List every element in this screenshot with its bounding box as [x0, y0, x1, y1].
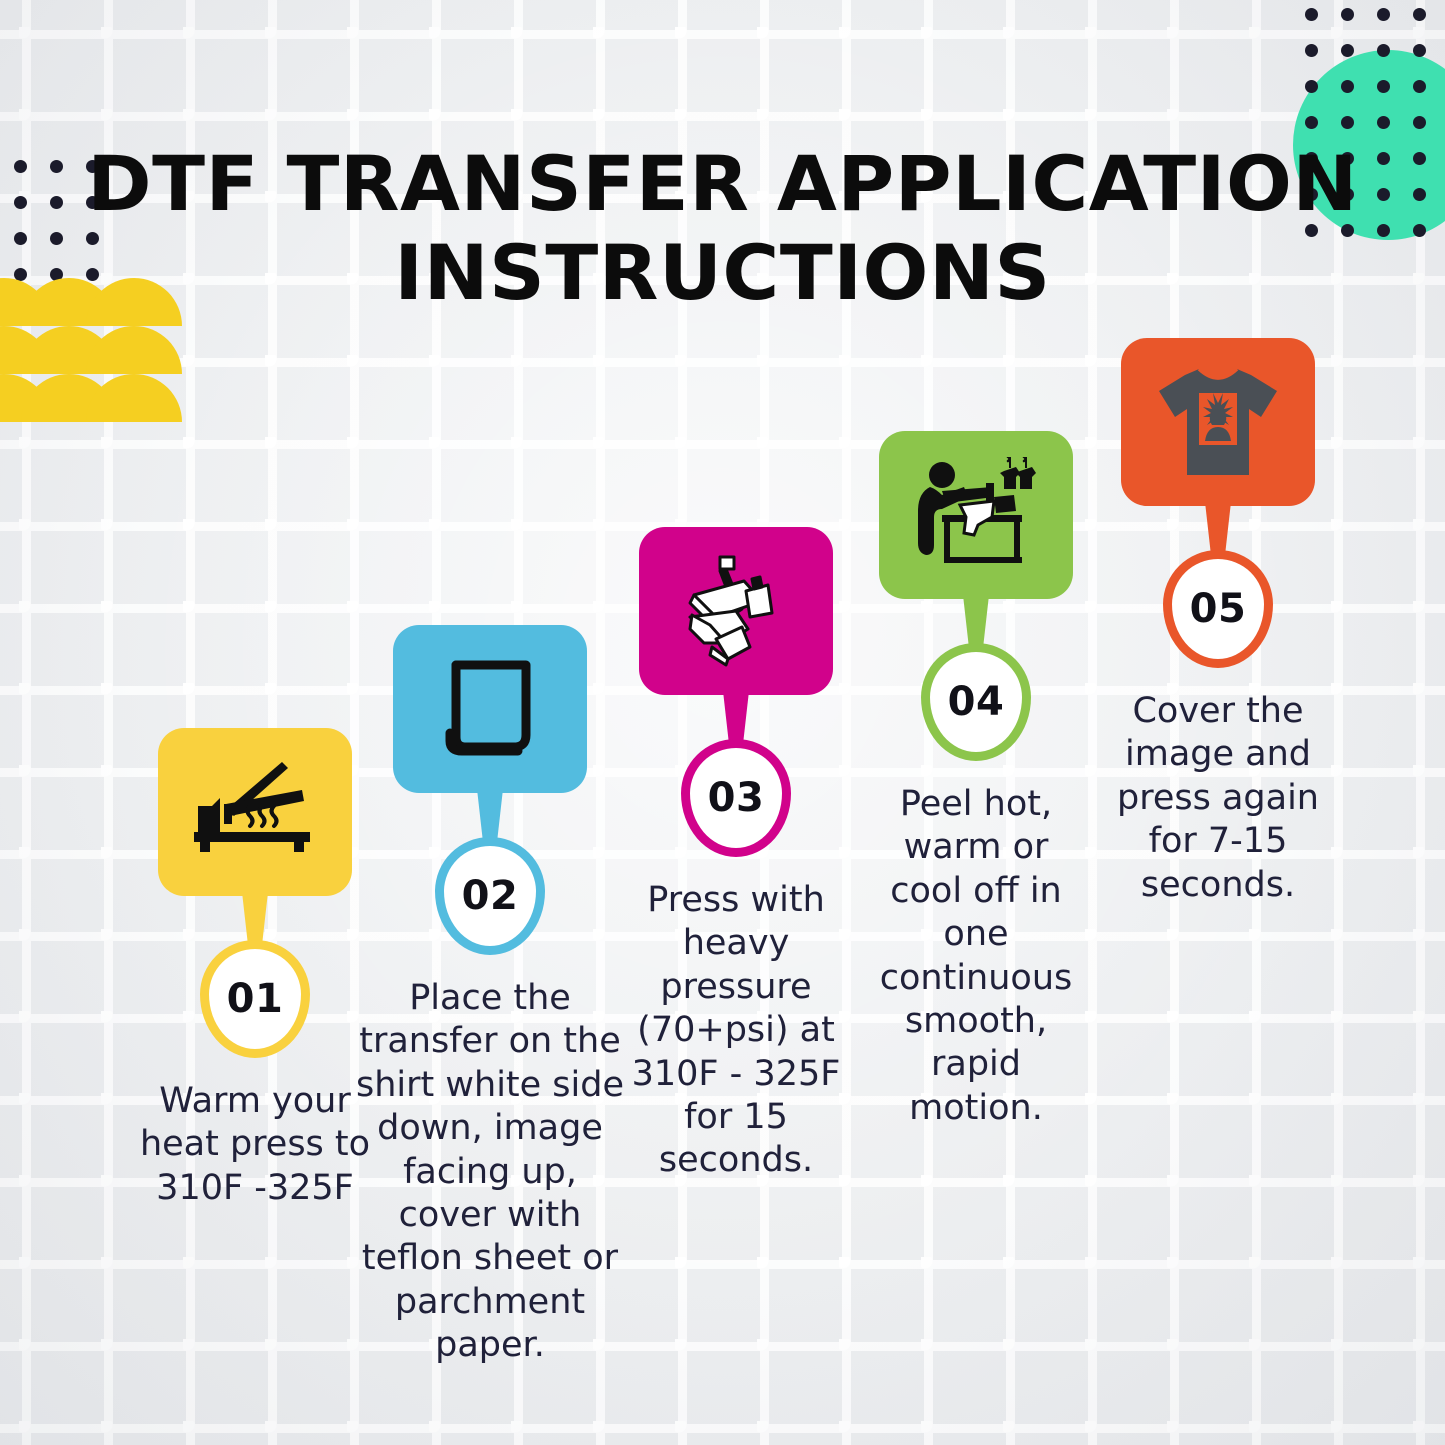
page-title: DTF TRANSFER APPLICATION INSTRUCTIONS — [0, 140, 1445, 318]
step-05-description: Cover the image and press again for 7-15… — [1115, 690, 1321, 907]
step-04-number-badge: 04 — [921, 643, 1031, 761]
decor-dot — [1413, 44, 1426, 57]
step-03-number: 03 — [708, 775, 765, 821]
decor-dot — [1377, 44, 1390, 57]
step-item-05: 05 Cover the image and press again for 7… — [1068, 338, 1368, 907]
decor-dot — [1377, 8, 1390, 21]
decor-dot — [1377, 80, 1390, 93]
step-05-icon-card — [1121, 338, 1315, 506]
transfer-sheet-icon — [434, 655, 546, 763]
person-peeling-transfer-icon — [908, 457, 1044, 573]
decor-dot — [1413, 8, 1426, 21]
title-line-2: INSTRUCTIONS — [0, 229, 1445, 318]
step-01-number-badge: 01 — [200, 940, 310, 1058]
decor-dot — [1341, 8, 1354, 21]
heat-press-machine-icon — [676, 551, 796, 671]
decor-dot — [1413, 116, 1426, 129]
decor-dot — [1341, 116, 1354, 129]
infographic-poster: DTF TRANSFER APPLICATION INSTRUCTIONS — [0, 0, 1445, 1445]
decor-dot — [1305, 8, 1318, 21]
step-04-icon-card — [879, 431, 1073, 599]
decor-dot — [1341, 80, 1354, 93]
printed-tshirt-icon — [1155, 361, 1281, 483]
step-04-description: Peel hot, warm or cool off in one contin… — [869, 783, 1083, 1130]
decor-dot — [1305, 80, 1318, 93]
step-03-number-badge: 03 — [681, 739, 791, 857]
step-05-number: 05 — [1190, 586, 1247, 632]
step-02-number-badge: 02 — [435, 837, 545, 955]
step-03-icon-card — [639, 527, 833, 695]
step-02-number: 02 — [462, 873, 519, 919]
decor-dot — [1341, 44, 1354, 57]
decor-dot — [1413, 80, 1426, 93]
heat-press-open-icon — [190, 760, 320, 864]
step-02-icon-card — [393, 625, 587, 793]
dot-grid-top-right-icon — [1305, 8, 1435, 158]
step-05-number-badge: 05 — [1163, 550, 1273, 668]
title-line-1: DTF TRANSFER APPLICATION — [0, 140, 1445, 229]
step-01-number: 01 — [227, 976, 284, 1022]
step-03-description: Press with heavy pressure (70+psi) at 31… — [618, 879, 854, 1183]
step-01-icon-card — [158, 728, 352, 896]
step-04-number: 04 — [948, 679, 1005, 725]
decor-dot — [1305, 116, 1318, 129]
decor-dot — [1305, 44, 1318, 57]
decor-dot — [1377, 116, 1390, 129]
step-02-description: Place the transfer on the shirt white si… — [356, 977, 624, 1368]
